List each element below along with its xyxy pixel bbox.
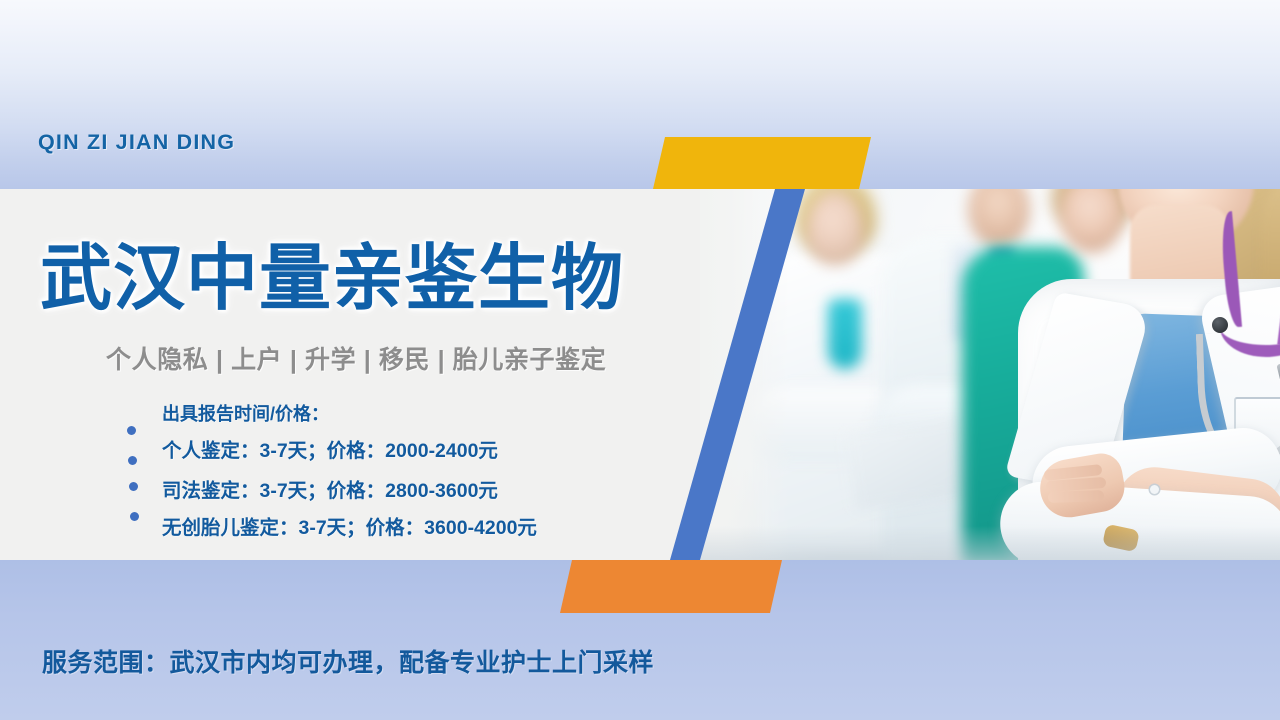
bullet-dot-icon xyxy=(130,512,139,521)
bullet-dot-icon xyxy=(128,456,137,465)
list-item-label: 出具报告时间/价格： xyxy=(162,400,329,426)
pinyin-heading: QIN ZI JIAN DING xyxy=(38,130,235,155)
list-item: 个人鉴定：3-7天；价格：2000-2400元 xyxy=(124,432,684,466)
list-item-label: 司法鉴定：3-7天；价格：2800-3600元 xyxy=(162,474,498,503)
list-item: 无创胎儿鉴定：3-7天；价格：3600-4200元 xyxy=(124,504,684,538)
list-item-label: 无创胎儿鉴定：3-7天；价格：3600-4200元 xyxy=(162,511,537,540)
service-area-footer: 服务范围：武汉市内均可办理，配备专业护士上门采样 xyxy=(42,643,654,679)
bullet-dot-icon xyxy=(129,482,138,491)
top-gradient-band xyxy=(0,0,1280,189)
price-list: 出具报告时间/价格： 个人鉴定：3-7天；价格：2000-2400元 司法鉴定：… xyxy=(124,400,684,550)
banner-root: QIN ZI JIAN DING 武汉中量亲鉴生物 个人隐私 | 上户 | 升学… xyxy=(0,0,1280,720)
list-item: 出具报告时间/价格： xyxy=(124,400,684,434)
orange-parallelogram-accent xyxy=(560,560,782,613)
service-tagline: 个人隐私 | 上户 | 升学 | 移民 | 胎儿亲子鉴定 xyxy=(106,340,606,376)
list-item-label: 个人鉴定：3-7天；价格：2000-2400元 xyxy=(162,434,498,463)
yellow-parallelogram-accent xyxy=(653,137,871,189)
list-item: 司法鉴定：3-7天；价格：2800-3600元 xyxy=(124,470,684,504)
page-title: 武汉中量亲鉴生物 xyxy=(40,219,624,324)
